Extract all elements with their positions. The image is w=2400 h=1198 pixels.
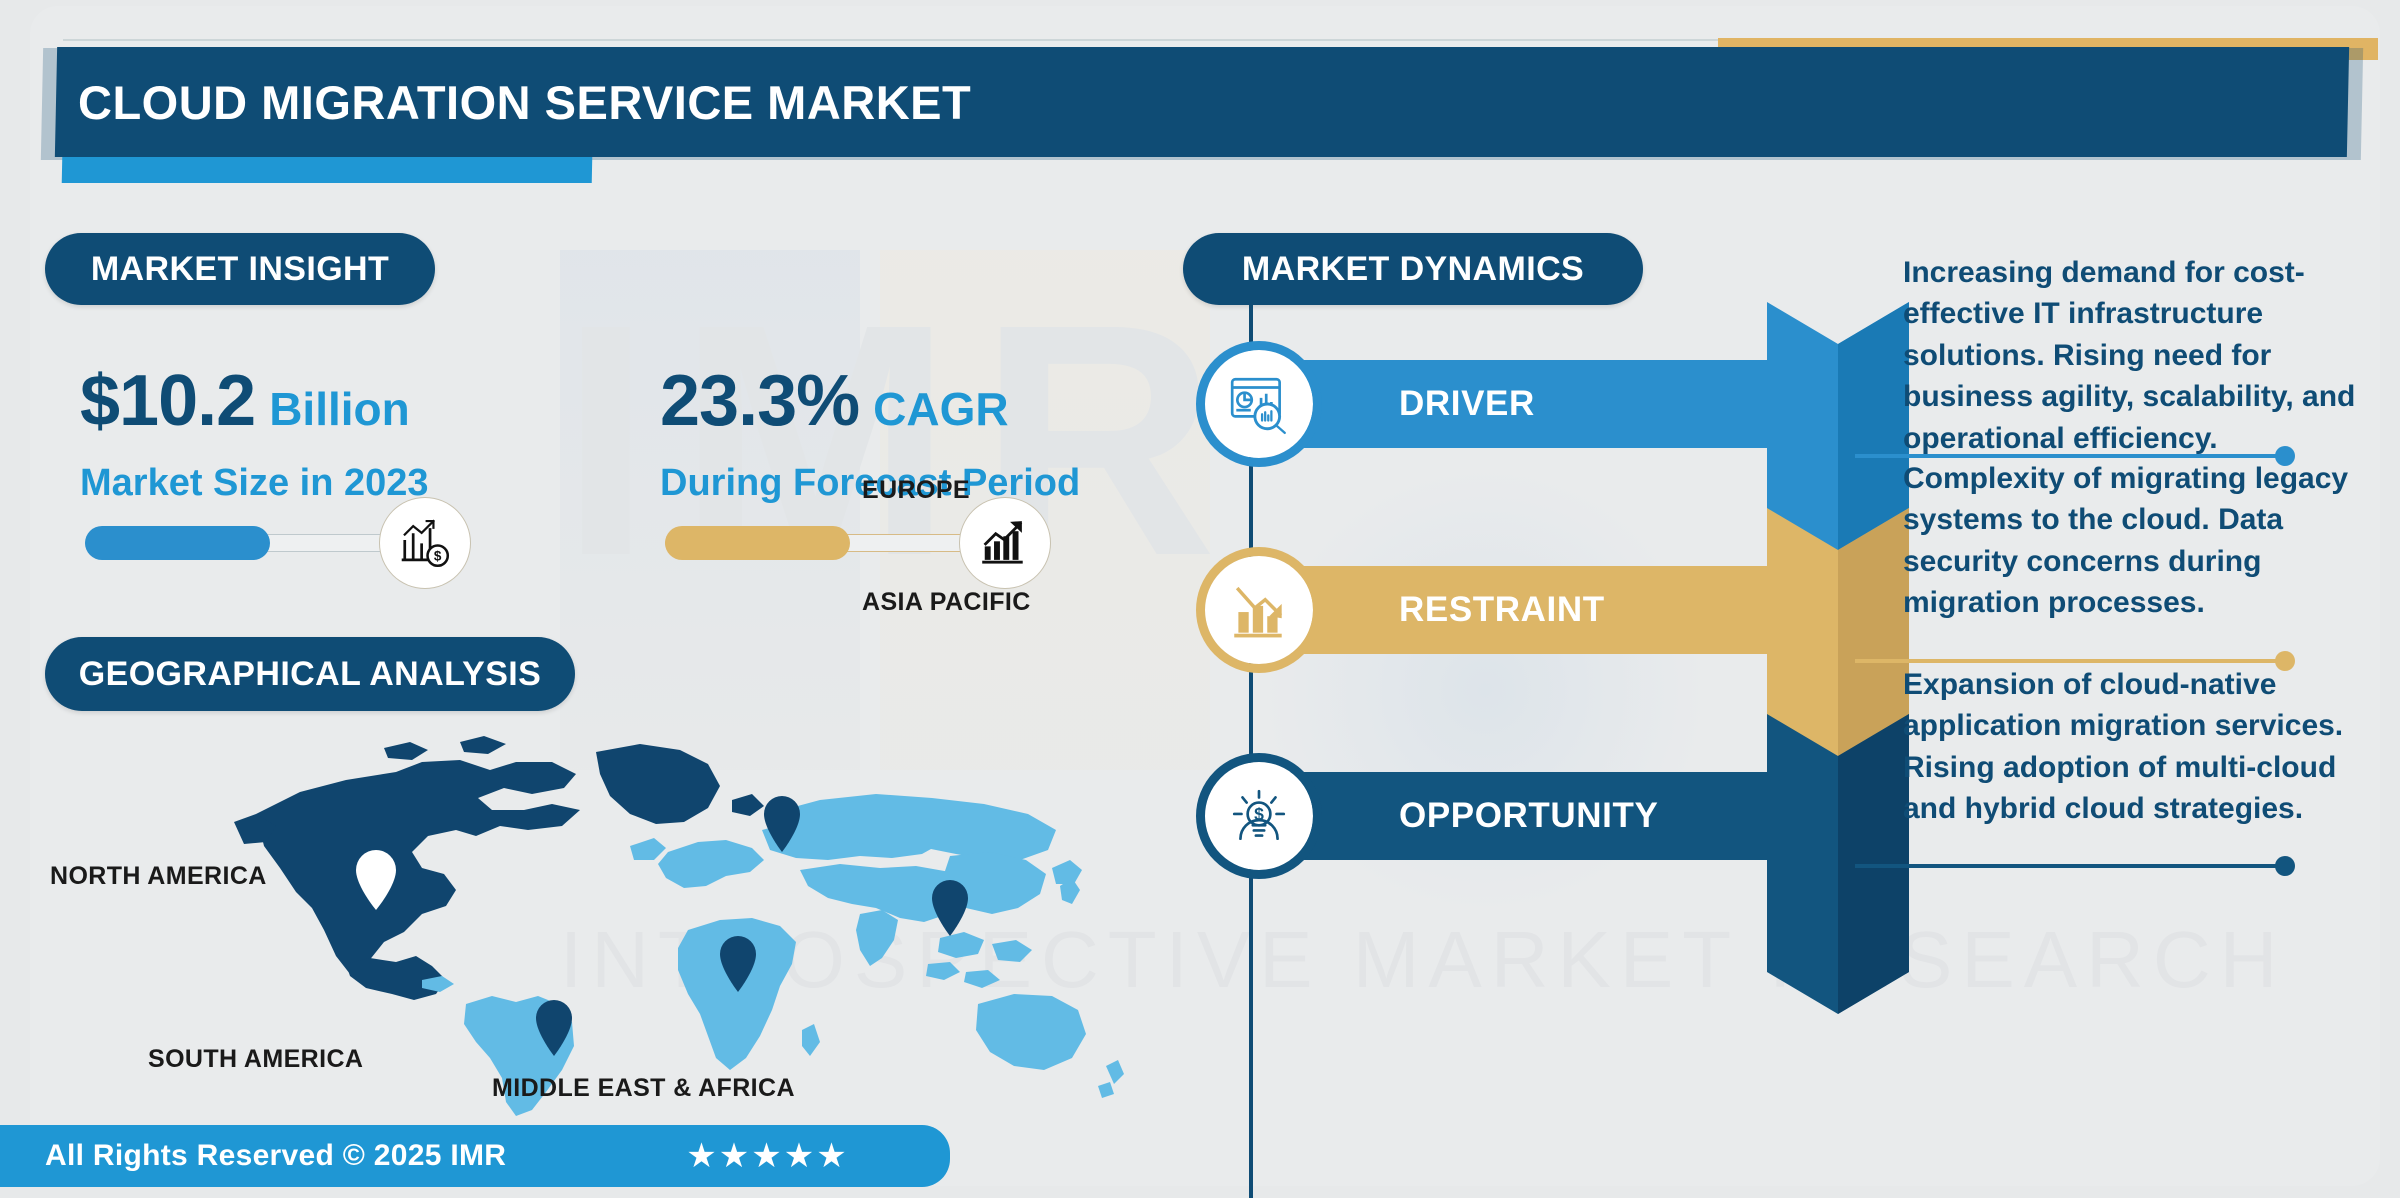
- progress-market-size: $: [85, 526, 405, 560]
- section-pill-geographical-analysis: GEOGRAPHICAL ANALYSIS: [45, 637, 575, 711]
- driver-description: Increasing demand for cost-effective IT …: [1903, 252, 2373, 459]
- rating-stars: ★★★★★: [686, 1136, 848, 1176]
- svg-text:$: $: [1254, 804, 1264, 824]
- section-pill-market-dynamics: MARKET DYNAMICS: [1183, 233, 1643, 305]
- opportunity-bar: $ OPPORTUNITY: [1249, 772, 1853, 860]
- driver-label: DRIVER: [1399, 360, 1535, 448]
- restraint-bar: RESTRAINT: [1249, 566, 1853, 654]
- stat-caption: Market Size in 2023: [80, 462, 600, 505]
- section-pill-market-insight: MARKET INSIGHT: [45, 233, 435, 305]
- stat-unit: CAGR: [873, 382, 1008, 436]
- stat-value: $10.2: [80, 360, 255, 442]
- infographic-root: IMR INTROSPECTIVE MARKET RESEARCH CLOUD …: [0, 0, 2400, 1198]
- map-label-asia-pacific: ASIA PACIFIC: [862, 588, 1031, 617]
- map-pin-asia-pacific: [932, 880, 968, 936]
- svg-text:$: $: [434, 549, 442, 564]
- header-accent-blue: [62, 157, 593, 183]
- stat-value: 23.3%: [660, 360, 859, 442]
- dynamics-item-opportunity: $ OPPORTUNITY Expansion of cloud-native …: [1183, 712, 2383, 962]
- copyright-text: All Rights Reserved © 2025 IMR: [45, 1139, 506, 1173]
- opportunity-description: Expansion of cloud-native application mi…: [1903, 664, 2373, 830]
- driver-bar: DRIVER: [1249, 360, 1853, 448]
- restraint-description: Complexity of migrating legacy systems t…: [1903, 458, 2373, 624]
- declining-bar-chart-icon: [1205, 556, 1313, 664]
- footer-bar: All Rights Reserved © 2025 IMR ★★★★★: [0, 1125, 950, 1187]
- dashboard-analytics-search-icon: [1205, 350, 1313, 458]
- restraint-label: RESTRAINT: [1399, 566, 1605, 654]
- bar-chart-dollar-icon: $: [380, 498, 470, 588]
- market-dynamics-timeline: DRIVER Increasing demand for cost-effect…: [1183, 300, 2383, 1198]
- map-label-middle-east-africa: MIDDLE EAST & AFRICA: [492, 1074, 795, 1103]
- lightbulb-dollar-idea-icon: $: [1205, 762, 1313, 870]
- growth-chart-arrow-icon: [960, 498, 1050, 588]
- map-label-europe: EUROPE: [862, 476, 970, 505]
- map-label-north-america: NORTH AMERICA: [50, 862, 267, 891]
- map-region-rest: [422, 794, 1124, 1116]
- progress-cagr: [665, 526, 985, 560]
- progress-fill: [665, 526, 850, 560]
- opportunity-label: OPPORTUNITY: [1399, 772, 1658, 860]
- page-title: CLOUD MIGRATION SERVICE MARKET: [78, 47, 1878, 157]
- restraint-underline: [1855, 659, 2285, 663]
- stat-unit: Billion: [269, 382, 410, 436]
- stat-market-size: $10.2 Billion Market Size in 2023: [80, 360, 600, 505]
- map-label-south-america: SOUTH AMERICA: [148, 1045, 363, 1074]
- opportunity-underline: [1855, 864, 2285, 868]
- progress-fill: [85, 526, 270, 560]
